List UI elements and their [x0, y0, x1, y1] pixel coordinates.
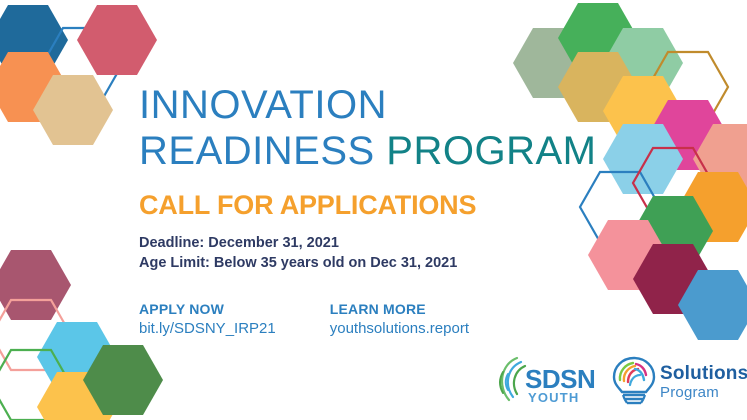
- poster-canvas: INNOVATION READINESS PROGRAM CALL FOR AP…: [0, 0, 747, 420]
- hex-orange: [0, 52, 68, 122]
- solutions-wordmark: Solutions: [660, 364, 747, 384]
- headline-readiness: READINESS: [139, 129, 386, 173]
- hex-yellow-right: [603, 76, 683, 146]
- cta-row: APPLY NOW bit.ly/SDSNY_IRP21 LEARN MORE …: [139, 301, 559, 337]
- subhead-call-for-applications: CALL FOR APPLICATIONS: [139, 190, 559, 221]
- hex-plum: [0, 250, 71, 320]
- hex-green-2: [633, 196, 713, 266]
- headline-program: PROGRAM: [386, 129, 596, 173]
- hex-magenta: [648, 100, 728, 170]
- cta-learn-more-link[interactable]: youthsolutions.report: [330, 320, 469, 337]
- lightbulb-icon: [611, 354, 657, 410]
- cta-learn-more[interactable]: LEARN MORE youthsolutions.report: [330, 301, 469, 337]
- program-wordmark: Program: [660, 384, 747, 401]
- hex-green: [558, 3, 638, 73]
- hex-tan: [33, 75, 113, 145]
- hex-orange-right: [678, 172, 747, 242]
- hex-dark-green: [83, 345, 163, 415]
- hex-rose: [77, 5, 157, 75]
- hex-outline-green: [0, 350, 71, 420]
- hex-mint: [603, 28, 683, 98]
- sdsn-youth-logo[interactable]: SDSN YOUTH: [495, 352, 603, 412]
- hex-cyan: [37, 322, 117, 392]
- hex-outline-blue: [43, 28, 123, 98]
- details-block: Deadline: December 31, 2021 Age Limit: B…: [139, 233, 559, 273]
- hex-pink: [588, 220, 668, 290]
- hex-dark-blue: [0, 5, 68, 75]
- hex-gold: [558, 52, 638, 122]
- sdsn-swoosh-icon: [500, 358, 525, 400]
- solutions-program-logo[interactable]: Solutions Program: [611, 352, 747, 412]
- headline-line-1: INNOVATION: [139, 82, 559, 128]
- hex-blue-right: [678, 270, 747, 340]
- hex-outline-gold: [648, 52, 728, 122]
- cta-apply-now[interactable]: APPLY NOW bit.ly/SDSNY_IRP21: [139, 301, 276, 337]
- hex-outline-red: [633, 148, 713, 218]
- sdsn-youth-wordmark: YOUTH: [528, 390, 580, 405]
- cta-apply-now-link[interactable]: bit.ly/SDSNY_IRP21: [139, 320, 276, 337]
- detail-age-limit: Age Limit: Below 35 years old on Dec 31,…: [139, 253, 559, 273]
- hex-salmon: [693, 124, 747, 194]
- poster-text-block: INNOVATION READINESS PROGRAM CALL FOR AP…: [139, 82, 559, 337]
- cta-apply-now-heading: APPLY NOW: [139, 301, 276, 317]
- hex-outline-pink: [0, 300, 71, 370]
- detail-deadline: Deadline: December 31, 2021: [139, 233, 559, 253]
- hex-outline-blue-right: [580, 172, 660, 242]
- headline-line-2: READINESS PROGRAM: [139, 128, 559, 174]
- hex-yellow: [37, 372, 117, 420]
- hex-maroon: [633, 244, 713, 314]
- logo-row: SDSN YOUTH: [495, 352, 747, 412]
- hex-light-blue: [603, 124, 683, 194]
- cta-learn-more-heading: LEARN MORE: [330, 301, 469, 317]
- solutions-wordmark-block: Solutions Program: [660, 364, 747, 401]
